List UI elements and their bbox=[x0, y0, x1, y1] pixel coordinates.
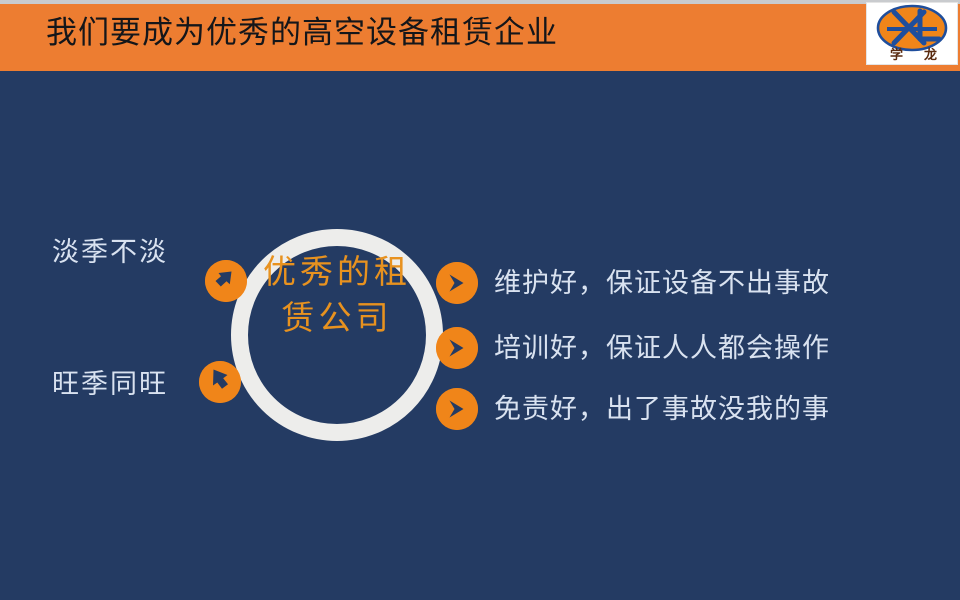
list-item: 培训好，保证人人都会操作 bbox=[436, 327, 830, 369]
slide-canvas: 我们要成为优秀的高空设备租赁企业 学 龙 优秀的租赁公司 淡季不淡 旺季同旺 bbox=[0, 0, 960, 600]
left-label-dull-season: 淡季不淡 bbox=[52, 235, 168, 269]
arrow-down-left-badge-icon bbox=[199, 361, 241, 403]
center-label: 优秀的租赁公司 bbox=[256, 250, 418, 342]
left-label-peak-season: 旺季同旺 bbox=[52, 367, 168, 401]
arrow-right-badge-icon bbox=[436, 262, 478, 304]
list-item-label: 免责好，出了事故没我的事 bbox=[494, 391, 830, 427]
arrow-right-badge-icon bbox=[436, 327, 478, 369]
logo-char-right: 龙 bbox=[924, 47, 937, 62]
company-logo: 学 龙 bbox=[866, 2, 958, 65]
list-item-label: 维护好，保证设备不出事故 bbox=[494, 265, 830, 301]
logo-char-left: 学 bbox=[890, 47, 903, 62]
arrow-right-badge-icon bbox=[436, 388, 478, 430]
arrow-up-left-badge-icon bbox=[205, 260, 247, 302]
list-item-label: 培训好，保证人人都会操作 bbox=[494, 330, 830, 366]
list-item: 免责好，出了事故没我的事 bbox=[436, 388, 830, 430]
page-title: 我们要成为优秀的高空设备租赁企业 bbox=[46, 14, 558, 52]
list-item: 维护好，保证设备不出事故 bbox=[436, 262, 830, 304]
logo-graphic: 学 龙 bbox=[867, 3, 957, 64]
